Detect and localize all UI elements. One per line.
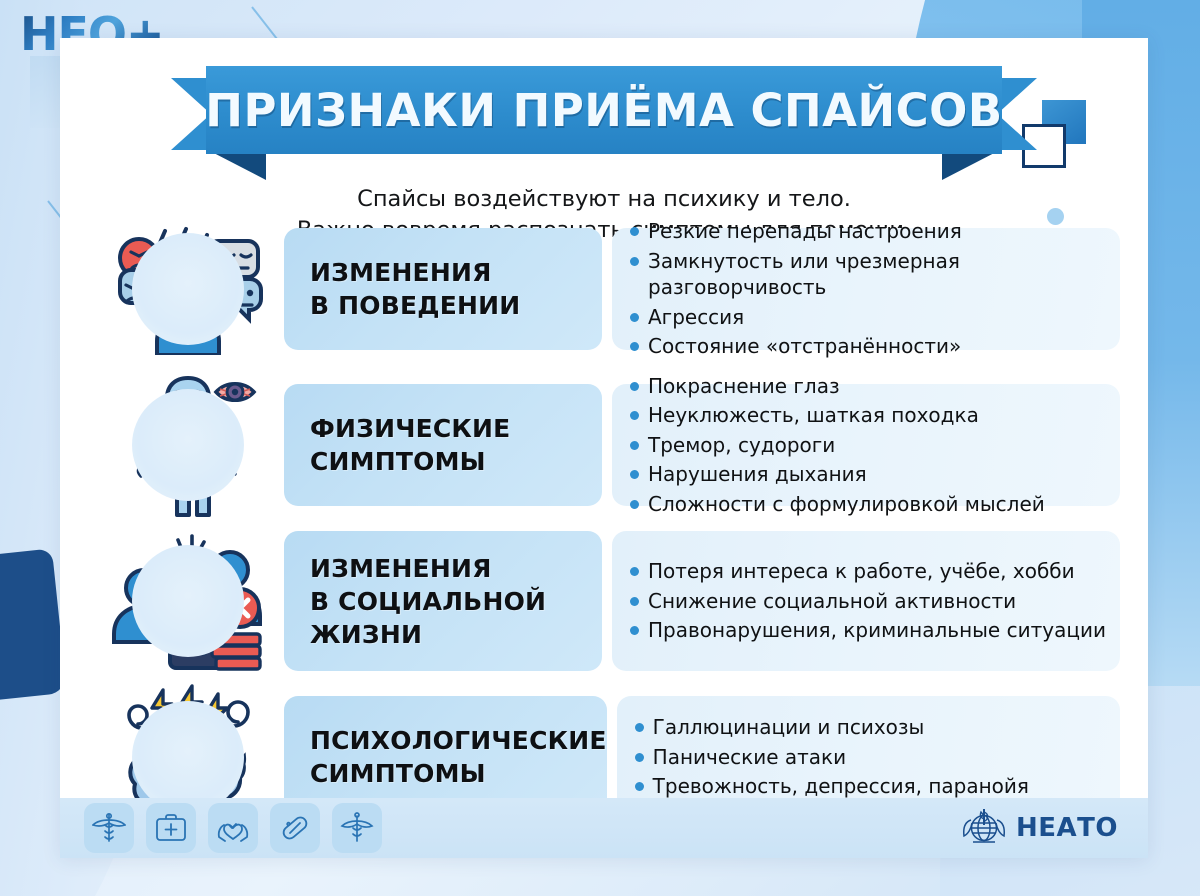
bullet-dot-icon <box>635 753 644 762</box>
bullet-dot-icon <box>630 227 639 236</box>
list-item: Снижение социальной активности <box>630 588 1106 615</box>
bullet-dot-icon <box>635 723 644 732</box>
list-item: Агрессия <box>630 304 1106 331</box>
first-aid-kit-icon <box>146 803 196 853</box>
bullet-dot-icon <box>630 342 639 351</box>
section-label-behavior: ИЗМЕНЕНИЯ В ПОВЕДЕНИИ <box>284 228 602 350</box>
list-item: Тремор, судороги <box>630 432 1106 459</box>
caduceus-icon <box>84 803 134 853</box>
section-title-social: ИЗМЕНЕНИЯ В СОЦИАЛЬНОЙ ЖИЗНИ <box>310 552 546 651</box>
who-emblem-icon <box>962 806 1006 850</box>
ribbon-banner: ПРИЗНАКИ ПРИЁМА СПАЙСОВ <box>206 66 1002 154</box>
bullet-dot-icon <box>630 382 639 391</box>
section-title-behavior: ИЗМЕНЕНИЯ В ПОВЕДЕНИИ <box>310 256 520 322</box>
list-item: Покраснение глаз <box>630 373 1106 400</box>
footer-bar: НЕАТО <box>60 798 1148 858</box>
capsule-pill-icon <box>270 803 320 853</box>
section-row-behavior: ИЗМЕНЕНИЯ В ПОВЕДЕНИИ Резкие перепады на… <box>92 216 1120 362</box>
list-item: Резкие перепады настроения <box>630 218 1106 245</box>
list-item: Замкнутость или чрезмерная разговорчивос… <box>630 248 1106 301</box>
heart-in-hands-icon <box>208 803 258 853</box>
bullet-dot-icon <box>630 567 639 576</box>
list-item: Нарушения дыхания <box>630 461 1106 488</box>
section-bullets-physical: Покраснение глаз Неуклюжесть, шаткая пох… <box>612 384 1120 506</box>
list-item: Состояние «отстранённости» <box>630 333 1106 360</box>
section-bullets-social: Потеря интереса к работе, учёбе, хобби С… <box>612 531 1120 671</box>
title-ribbon: ПРИЗНАКИ ПРИЁМА СПАЙСОВ <box>60 66 1148 172</box>
list-item: Галлюцинации и психозы <box>635 714 1106 741</box>
section-label-physical: ФИЗИЧЕСКИЕ СИМПТОМЫ <box>284 384 602 506</box>
bullet-dot-icon <box>630 313 639 322</box>
infographic-page: HEO+ ПРИЗНАКИ ПРИЁМА СПАЙСОВ Спайсы возд… <box>0 0 1200 896</box>
ribbon-fold-left <box>208 150 266 180</box>
organization-name: НЕАТО <box>1016 813 1118 843</box>
organization-logo: НЕАТО <box>962 806 1118 850</box>
section-title-psychological: ПСИХОЛОГИЧЕСКИЕ СИМПТОМЫ <box>310 724 607 790</box>
list-item: Потеря интереса к работе, учёбе, хобби <box>630 558 1106 585</box>
broken-social-link-briefcase-icon <box>92 528 284 674</box>
section-label-social: ИЗМЕНЕНИЯ В СОЦИАЛЬНОЙ ЖИЗНИ <box>284 531 602 671</box>
poster-card: ПРИЗНАКИ ПРИЁМА СПАЙСОВ Спайсы воздейств… <box>60 38 1148 858</box>
trembling-body-red-eye-icon <box>92 372 284 518</box>
bullet-dot-icon <box>630 257 639 266</box>
bullet-dot-icon <box>630 597 639 606</box>
list-item: Тревожность, депрессия, паранойя <box>635 773 1106 800</box>
ribbon-fold-right <box>942 150 1000 180</box>
section-bullets-behavior: Резкие перепады настроения Замкнутость и… <box>612 228 1120 350</box>
sections-list: ИЗМЕНЕНИЯ В ПОВЕДЕНИИ Резкие перепады на… <box>92 216 1120 840</box>
caduceus-wings-icon <box>332 803 382 853</box>
bullet-dot-icon <box>630 470 639 479</box>
list-item: Сложности с формулировкой мыслей <box>630 491 1106 518</box>
bullet-dot-icon <box>630 500 639 509</box>
section-row-social: ИЗМЕНЕНИЯ В СОЦИАЛЬНОЙ ЖИЗНИ Потеря инте… <box>92 528 1120 674</box>
bullet-dot-icon <box>630 626 639 635</box>
list-item: Правонарушения, криминальные ситуации <box>630 617 1106 644</box>
subtitle-line-1: Спайсы воздействуют на психику и тело. <box>60 184 1148 215</box>
angry-person-emotions-icon <box>92 216 284 362</box>
list-item: Неуклюжесть, шаткая походка <box>630 402 1106 429</box>
bullet-dot-icon <box>630 441 639 450</box>
footer-icon-strip <box>84 803 382 853</box>
section-row-physical: ФИЗИЧЕСКИЕ СИМПТОМЫ Покраснение глаз Неу… <box>92 372 1120 518</box>
page-title: ПРИЗНАКИ ПРИЁМА СПАЙСОВ <box>205 84 1002 137</box>
section-title-physical: ФИЗИЧЕСКИЕ СИМПТОМЫ <box>310 412 510 478</box>
bullet-dot-icon <box>630 411 639 420</box>
bullet-dot-icon <box>635 782 644 791</box>
list-item: Панические атаки <box>635 744 1106 771</box>
